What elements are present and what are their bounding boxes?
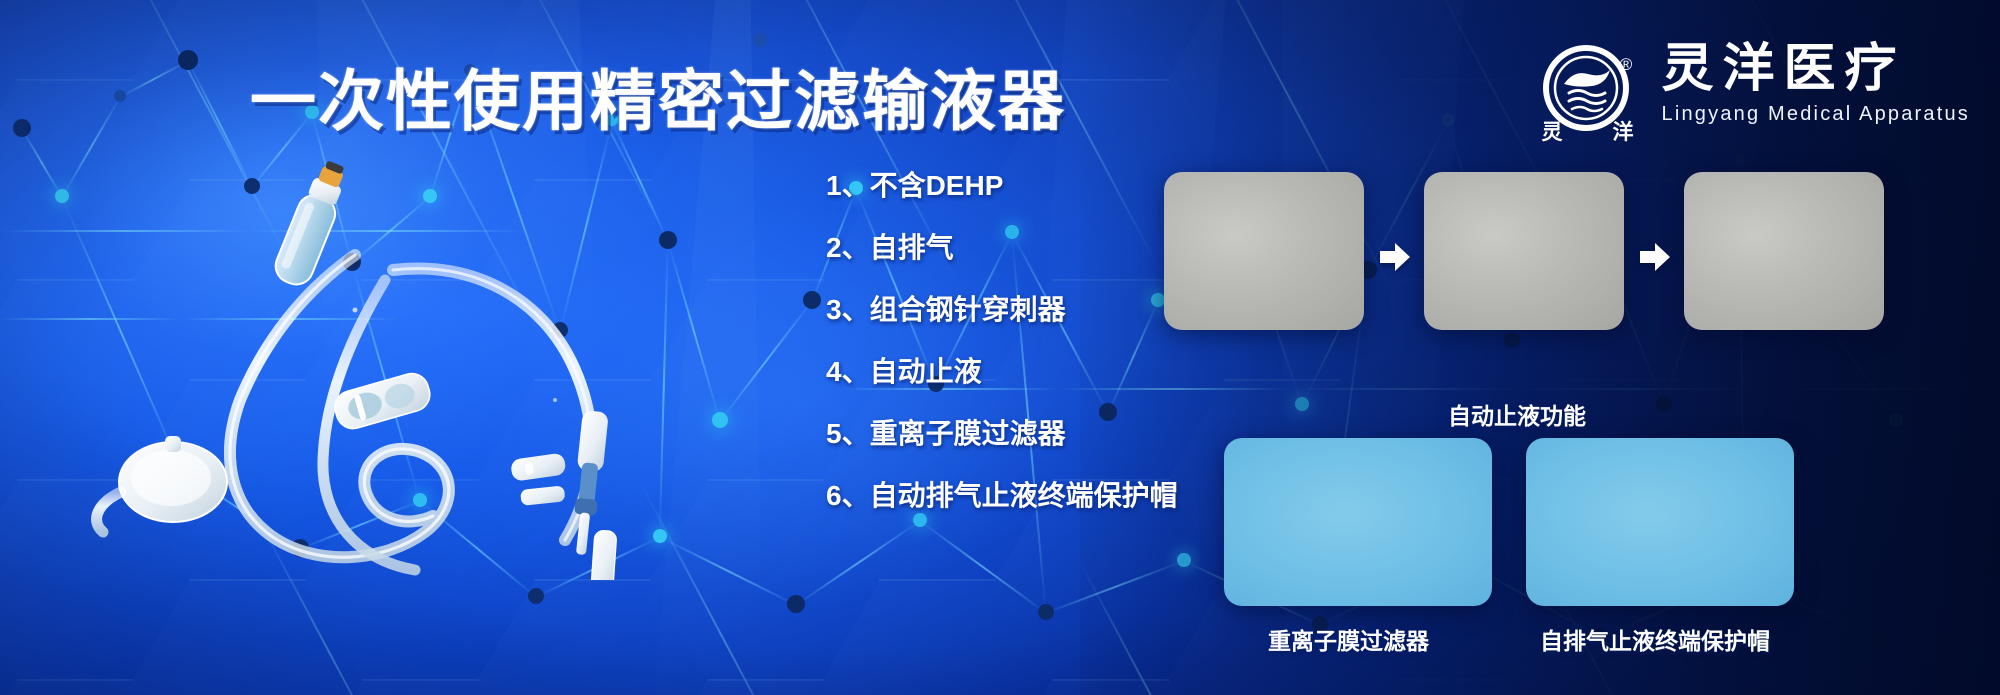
page-title: 一次性使用精密过滤输液器 [250, 48, 1066, 144]
detail-panel-cap [1526, 438, 1794, 606]
arrow-right-icon [1378, 240, 1412, 274]
sequence-frame-3 [1684, 172, 1884, 330]
promotional-banner: 一次性使用精密过滤输液器 ® 灵 洋 灵洋医疗 Lingyang Medical… [0, 0, 2000, 695]
sequence-frame-2 [1424, 172, 1624, 330]
svg-text:®: ® [1619, 55, 1632, 74]
detail-caption-filter: 重离子膜过滤器 [1268, 622, 1429, 656]
emblem-left-char: 灵 [1542, 116, 1563, 146]
brand-name-cn: 灵洋医疗 [1662, 42, 1970, 97]
sequence-caption: 自动止液功能 [1448, 397, 1586, 431]
emblem-right-char: 洋 [1613, 116, 1634, 146]
brand-name-en: Lingyang Medical Apparatus [1662, 103, 1970, 126]
feature-item: 5、重离子膜过滤器 [826, 420, 1226, 448]
feature-item: 4、自动止液 [826, 358, 1226, 386]
emblem-sub-characters: 灵 洋 [1536, 116, 1640, 146]
detail-caption-cap: 自排气止液终端保护帽 [1540, 622, 1770, 656]
feature-item: 6、自动排气止液终端保护帽 [826, 482, 1226, 510]
brand-text-block: 灵洋医疗 Lingyang Medical Apparatus [1662, 38, 1970, 126]
product-photo [55, 160, 815, 580]
brand-logo: ® 灵 洋 灵洋医疗 Lingyang Medical Apparatus [1536, 38, 1970, 142]
detail-panel-filter [1224, 438, 1492, 606]
wave-fish-circle-emblem-icon: ® 灵 洋 [1536, 38, 1640, 142]
sequence-frame-1 [1164, 172, 1364, 330]
arrow-right-icon [1638, 240, 1672, 274]
